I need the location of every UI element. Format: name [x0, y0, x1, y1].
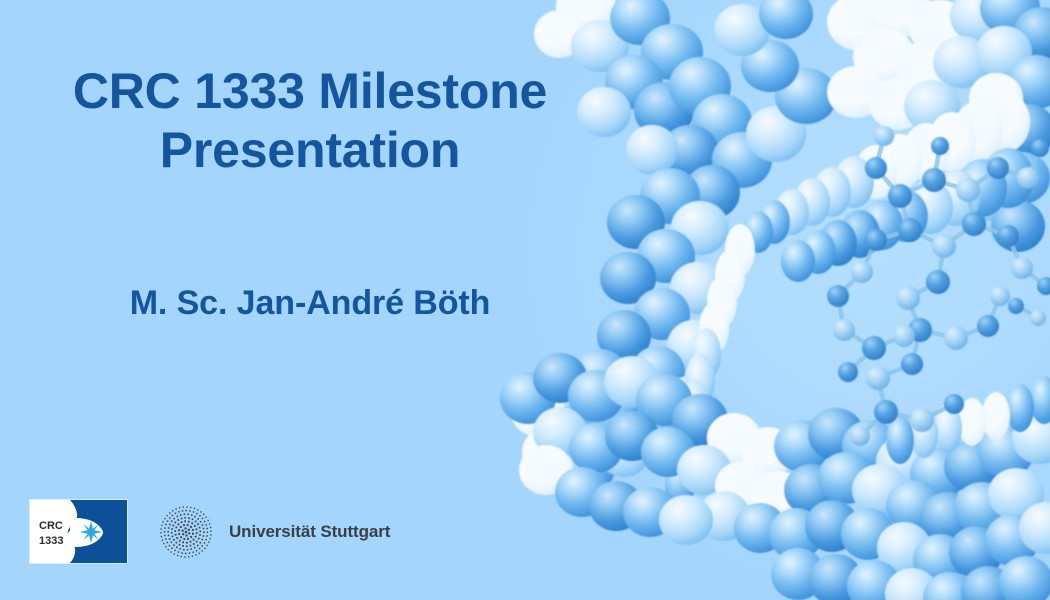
- crc-logo-line-2: 1333: [39, 535, 63, 547]
- uni-stuttgart-dot-mark: [159, 505, 213, 559]
- footer-logo-bar: CRC 1333 Universität Stuttgart: [30, 500, 390, 563]
- title-line-2: Presentation: [160, 122, 460, 178]
- crc-logo-line-1: CRC: [39, 520, 63, 532]
- uni-stuttgart-label: Universität Stuttgart: [229, 522, 390, 542]
- title-line-1: CRC 1333 Milestone: [73, 63, 547, 119]
- universitaet-stuttgart-logo: Universität Stuttgart: [159, 505, 390, 559]
- crc-1333-logo: CRC 1333: [30, 500, 127, 563]
- presentation-slide: CRC 1333 Milestone Presentation M. Sc. J…: [0, 0, 1050, 600]
- title-block: CRC 1333 Milestone Presentation: [0, 62, 620, 179]
- page-title: CRC 1333 Milestone Presentation: [0, 62, 620, 179]
- presenter-name: M. Sc. Jan-André Böth: [0, 284, 620, 323]
